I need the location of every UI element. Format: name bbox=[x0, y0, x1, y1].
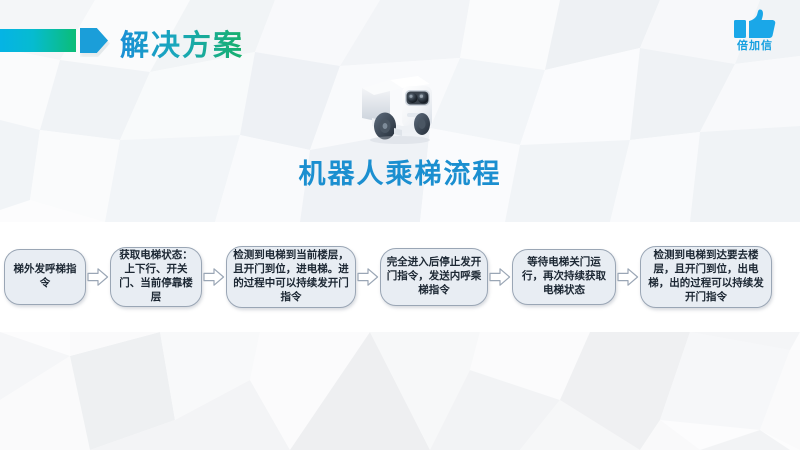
flow-node-label: 获取电梯状态：上下行、开关门、当前停靠楼层 bbox=[116, 249, 196, 304]
flow-arrow-1 bbox=[86, 264, 110, 290]
flow-node-enter-elevator[interactable]: 检测到电梯到当前楼层，且开门到位，进电梯。进的过程中可以持续发开门指令 bbox=[226, 246, 356, 308]
flow-node-label: 梯外发呼梯指令 bbox=[10, 263, 80, 291]
slide-header: 解决方案 bbox=[0, 0, 800, 72]
brand-logo: 倍加信 bbox=[720, 8, 790, 60]
flow-arrow-5 bbox=[616, 264, 640, 290]
slide-canvas: 解决方案 倍加信 bbox=[0, 0, 800, 450]
banner-gradient-bar bbox=[0, 29, 76, 52]
arrow-right-icon bbox=[357, 267, 379, 287]
flow-node-label: 等待电梯关门运行，再次持续获取电梯状态 bbox=[518, 256, 610, 298]
elevator-flow-diagram: 梯外发呼梯指令 获取电梯状态：上下行、开关门、当前停靠楼层 检测到电梯到当前楼层… bbox=[0, 238, 800, 316]
section-title: 解决方案 bbox=[120, 22, 244, 64]
arrow-right-icon bbox=[489, 267, 511, 287]
flow-arrow-4 bbox=[488, 264, 512, 290]
flow-node-exit-elevator[interactable]: 检测到电梯到达要去楼层，且开门到位，出电梯，出的过程可以持续发开门指令 bbox=[640, 246, 772, 308]
delivery-robot-illustration bbox=[350, 66, 450, 148]
arrow-right-icon bbox=[203, 267, 225, 287]
page-title: 机器人乘梯流程 bbox=[0, 152, 800, 191]
logo-text: 倍加信 bbox=[737, 40, 773, 52]
flow-arrow-3 bbox=[356, 264, 380, 290]
flow-node-label: 检测到电梯到达要去楼层，且开门到位，出电梯，出的过程可以持续发开门指令 bbox=[646, 249, 766, 304]
flow-node-wait-travel[interactable]: 等待电梯关门运行，再次持续获取电梯状态 bbox=[512, 249, 616, 305]
arrow-right-icon bbox=[87, 267, 109, 287]
flow-node-call-elevator[interactable]: 梯外发呼梯指令 bbox=[4, 249, 86, 305]
thumbs-up-icon bbox=[732, 8, 778, 40]
flow-node-inner-call[interactable]: 完全进入后停止发开门指令，发送内呼乘梯指令 bbox=[380, 248, 488, 306]
flow-arrow-2 bbox=[202, 264, 226, 290]
arrow-right-icon bbox=[617, 267, 639, 287]
flow-node-get-status[interactable]: 获取电梯状态：上下行、开关门、当前停靠楼层 bbox=[110, 247, 202, 307]
flow-node-label: 完全进入后停止发开门指令，发送内呼乘梯指令 bbox=[386, 256, 482, 298]
flow-node-label: 检测到电梯到当前楼层，且开门到位，进电梯。进的过程中可以持续发开门指令 bbox=[232, 249, 350, 304]
